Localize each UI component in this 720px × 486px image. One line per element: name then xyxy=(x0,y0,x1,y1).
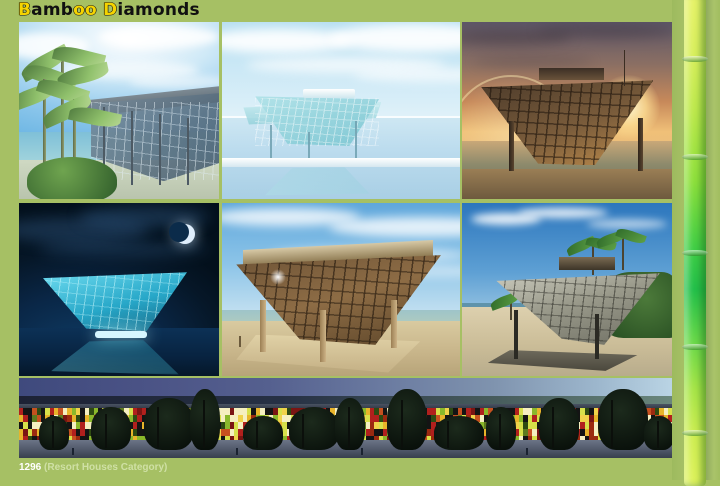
bamboo-node xyxy=(682,250,708,256)
structure-leg xyxy=(514,310,518,358)
gallery-image-render-glass-diamond-water[interactable] xyxy=(222,22,460,199)
bamboo-node xyxy=(682,430,708,436)
structure-column xyxy=(159,114,161,185)
entry-category: (Resort Houses Category) xyxy=(44,462,167,473)
tree-silhouette xyxy=(243,416,283,450)
human-figure xyxy=(72,448,74,455)
illuminated-base xyxy=(95,331,147,338)
entry-caption: 1296 (Resort Houses Category) xyxy=(19,461,167,475)
foreground-shrub xyxy=(27,157,117,199)
palm-trunk xyxy=(348,407,350,449)
entry-number: 1296 xyxy=(19,462,41,473)
human-figure xyxy=(239,336,241,347)
cloud-shape xyxy=(537,24,677,38)
title-part-5: iamonds xyxy=(117,0,199,20)
palm-trunk xyxy=(157,407,159,449)
palm-frond xyxy=(68,104,122,130)
title-part-4: D xyxy=(103,0,117,20)
roof-cap xyxy=(303,89,355,98)
tree-silhouette xyxy=(144,398,194,450)
structure-column xyxy=(187,118,189,185)
cloud-shape xyxy=(99,26,219,48)
palm-trunk xyxy=(105,414,107,448)
gallery-image-render-night-panorama-facade[interactable] xyxy=(19,378,677,458)
structure-leg xyxy=(391,300,397,348)
structure-leg xyxy=(638,118,643,171)
structure-leg xyxy=(509,121,514,171)
bamboo-stalk-icon xyxy=(684,0,706,486)
glass-mullion-grid xyxy=(255,98,379,146)
pier-deck xyxy=(222,158,460,167)
bamboo-node xyxy=(682,154,708,160)
roof-deck-house xyxy=(559,257,615,271)
gallery-image-render-day-structure-palms[interactable] xyxy=(19,22,219,199)
palm-trunk xyxy=(611,400,613,449)
platform-deck xyxy=(462,169,677,199)
crescent-moon-icon xyxy=(175,224,195,244)
cloud-shape xyxy=(587,219,667,229)
image-gallery xyxy=(19,22,677,458)
palm-trunk xyxy=(657,421,659,448)
structure-leg xyxy=(595,314,599,359)
bamboo-decoration-band xyxy=(672,0,720,480)
human-figure xyxy=(361,448,363,455)
structure-leg xyxy=(320,310,326,362)
palm-trunk xyxy=(52,421,54,448)
bamboo-node xyxy=(682,56,708,62)
palm-trunk xyxy=(401,400,403,449)
title-part-1: B xyxy=(18,0,31,20)
palm-trunk xyxy=(203,400,205,449)
tree-silhouette xyxy=(598,389,648,450)
palm-trunk xyxy=(552,407,554,449)
gallery-image-render-beach-timber-pyramid[interactable] xyxy=(222,203,460,376)
human-figure xyxy=(236,448,238,455)
roof-deck xyxy=(539,68,604,80)
tree-silhouette xyxy=(289,407,339,450)
bamboo-drop-shadow xyxy=(705,0,714,480)
title-part-3: oo xyxy=(73,0,97,20)
palm-trunk xyxy=(622,234,624,270)
tree-silhouette xyxy=(387,389,427,450)
structure-column xyxy=(131,111,133,185)
palm-trunk xyxy=(447,421,449,448)
palm-trunk xyxy=(302,414,304,448)
tree-silhouette xyxy=(539,398,579,450)
title-part-2: amb xyxy=(31,0,73,20)
presentation-board: Bamboo Diamonds xyxy=(0,0,720,480)
gallery-image-render-night-glowing-diamond[interactable] xyxy=(19,203,219,376)
sun-glint xyxy=(270,269,286,285)
palm-trunk xyxy=(499,414,501,448)
palm-trunk xyxy=(256,421,258,448)
gallery-image-render-sunset-diamond[interactable] xyxy=(462,22,677,199)
mast-antenna xyxy=(624,50,625,86)
tree-silhouette xyxy=(91,407,131,450)
structure-leg xyxy=(260,300,266,352)
bamboo-node xyxy=(682,344,708,350)
page-title: Bamboo Diamonds xyxy=(18,1,200,19)
human-figure xyxy=(526,448,528,455)
tree-silhouette xyxy=(434,416,484,450)
gallery-image-render-tropical-metallic-pyramid[interactable] xyxy=(462,203,677,376)
